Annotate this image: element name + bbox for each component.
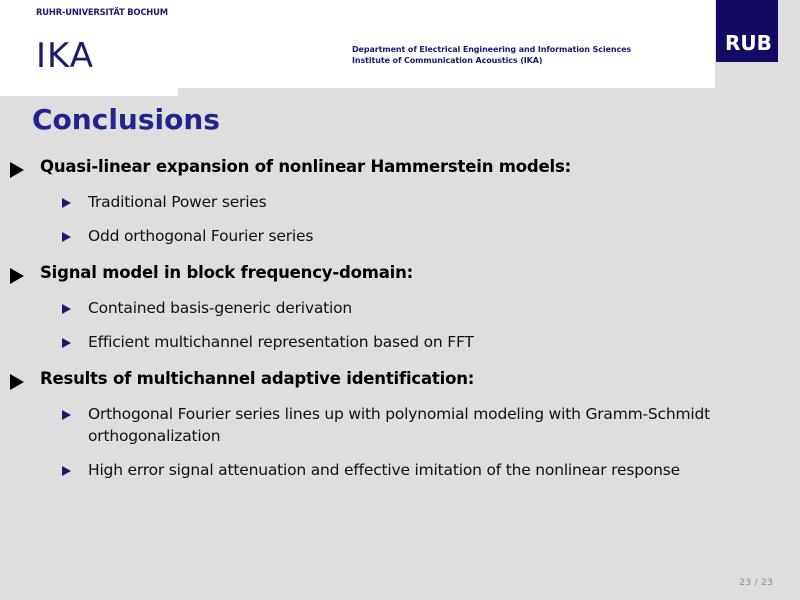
- triangle-right-icon: [10, 268, 24, 284]
- sub-bullet-label: Odd orthogonal Fourier series: [88, 227, 313, 245]
- sub-bullet-label: Efficient multichannel representation ba…: [88, 333, 474, 351]
- triangle-right-icon: [10, 162, 24, 178]
- sub-bullet-item: High error signal attenuation and effect…: [0, 459, 800, 481]
- main-bullet-label: Results of multichannel adaptive identif…: [40, 369, 474, 388]
- content-group: Signal model in block frequency-domain: …: [0, 261, 800, 353]
- department-line-2: Institute of Communication Acoustics (IK…: [352, 55, 631, 66]
- main-bullet-item: Results of multichannel adaptive identif…: [0, 367, 800, 391]
- rub-logo: RUB: [716, 0, 778, 62]
- rub-logo-text: RUB: [725, 33, 772, 53]
- triangle-right-icon: [10, 374, 24, 390]
- sub-bullet-list: Orthogonal Fourier series lines up with …: [0, 403, 800, 481]
- triangle-right-icon: [62, 338, 71, 348]
- sub-bullet-list: Contained basis-generic derivation Effic…: [0, 297, 800, 353]
- page-title: Conclusions: [32, 104, 220, 136]
- triangle-right-icon: [62, 466, 71, 476]
- content-group: Quasi-linear expansion of nonlinear Hamm…: [0, 155, 800, 247]
- sub-bullet-item: Contained basis-generic derivation: [0, 297, 800, 319]
- sub-bullet-label: Traditional Power series: [88, 193, 267, 211]
- content-group: Results of multichannel adaptive identif…: [0, 367, 800, 481]
- slide-content-list: Quasi-linear expansion of nonlinear Hamm…: [0, 155, 800, 495]
- department-info: Department of Electrical Engineering and…: [352, 44, 631, 66]
- sub-bullet-label: Contained basis-generic derivation: [88, 299, 352, 317]
- sub-bullet-item: Traditional Power series: [0, 191, 800, 213]
- sub-bullet-list: Traditional Power series Odd orthogonal …: [0, 191, 800, 247]
- sub-bullet-label: High error signal attenuation and effect…: [88, 461, 680, 479]
- triangle-right-icon: [62, 304, 71, 314]
- triangle-right-icon: [62, 232, 71, 242]
- main-bullet-label: Signal model in block frequency-domain:: [40, 263, 413, 282]
- presentation-slide: RUHR-UNIVERSITÄT BOCHUM IKA Department o…: [0, 0, 800, 600]
- sub-bullet-item: Odd orthogonal Fourier series: [0, 225, 800, 247]
- main-bullet-item: Signal model in block frequency-domain:: [0, 261, 800, 285]
- sub-bullet-label: Orthogonal Fourier series lines up with …: [88, 405, 710, 445]
- triangle-right-icon: [62, 198, 71, 208]
- main-bullet-label: Quasi-linear expansion of nonlinear Hamm…: [40, 157, 571, 176]
- header-white-tail: [0, 88, 178, 96]
- main-bullet-item: Quasi-linear expansion of nonlinear Hamm…: [0, 155, 800, 179]
- page-number: 23 / 23: [739, 578, 773, 588]
- department-line-1: Department of Electrical Engineering and…: [352, 44, 631, 55]
- institute-logo-text: IKA: [36, 37, 94, 75]
- sub-bullet-item: Efficient multichannel representation ba…: [0, 331, 800, 353]
- university-name: RUHR-UNIVERSITÄT BOCHUM: [36, 8, 168, 18]
- triangle-right-icon: [62, 410, 71, 420]
- sub-bullet-item: Orthogonal Fourier series lines up with …: [0, 403, 800, 447]
